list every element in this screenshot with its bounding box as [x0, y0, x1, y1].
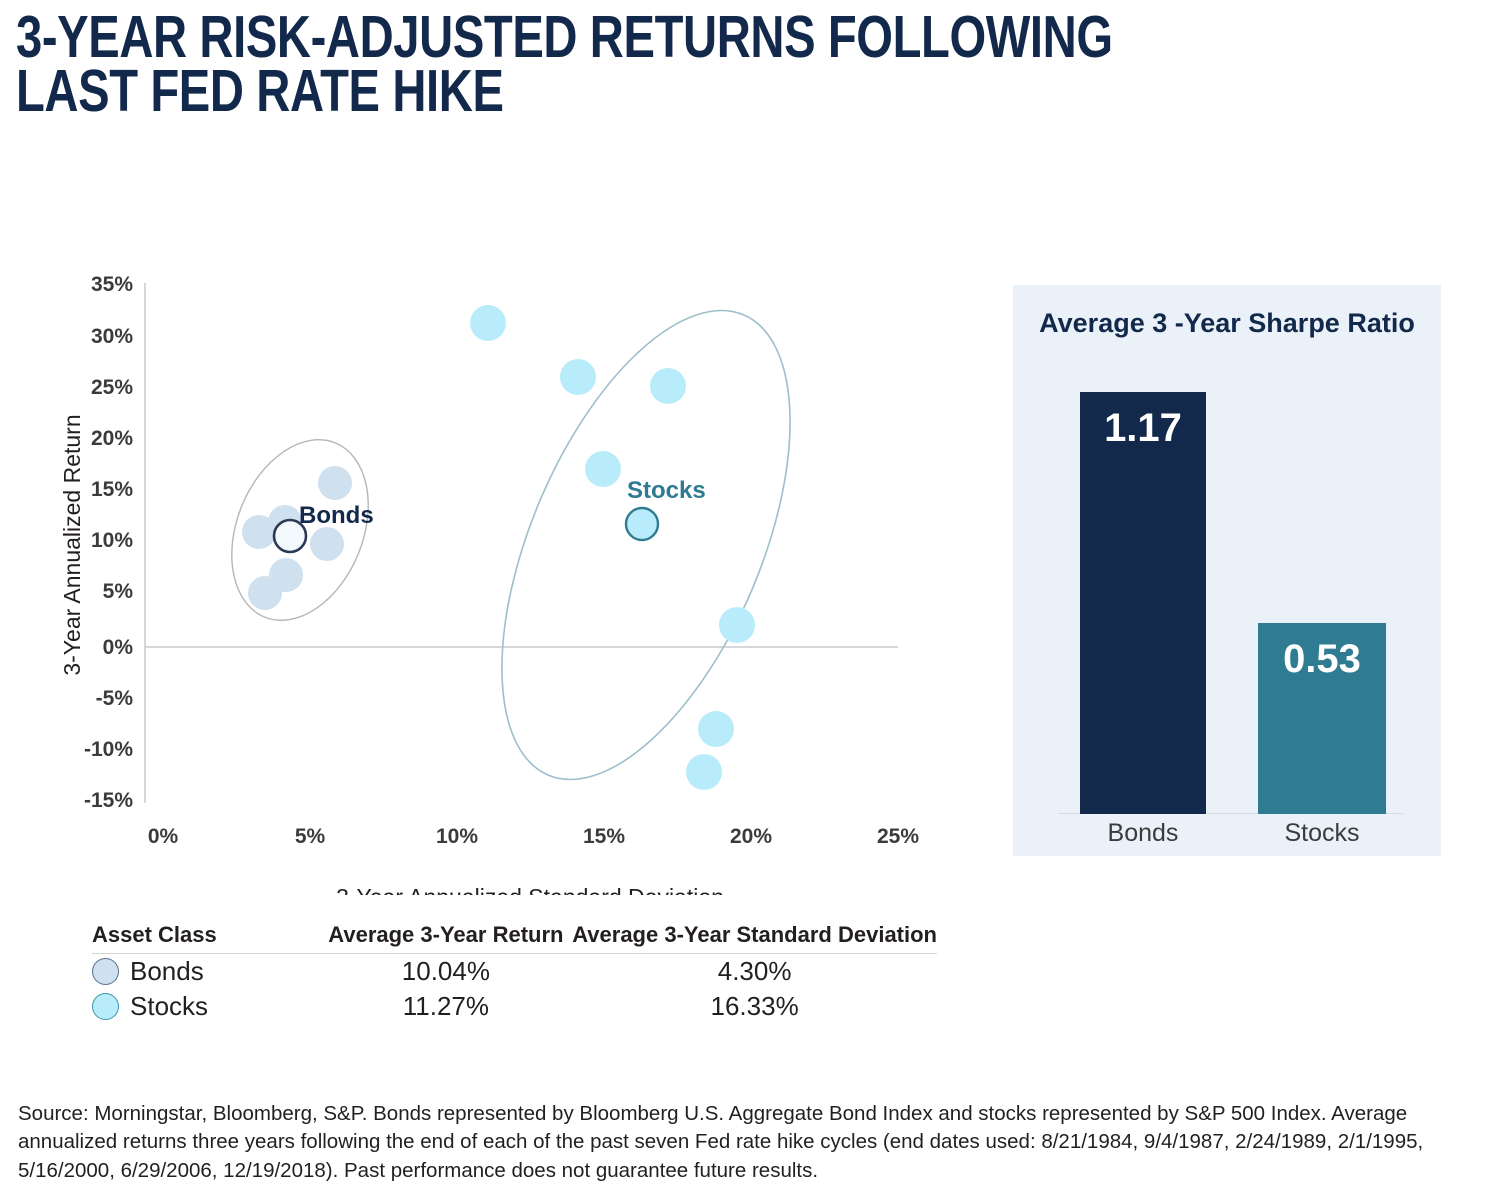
- x-tick-label: 25%: [877, 825, 919, 848]
- asset-name: Stocks: [130, 991, 208, 1022]
- bar-chart-title: Average 3 -Year Sharpe Ratio: [1013, 308, 1441, 339]
- bar-stocks: 0.53: [1258, 623, 1386, 814]
- bonds-legend-swatch-icon: [92, 958, 119, 985]
- scatter-chart: 35% 30% 25% 20% 15% 10% 5% 0% -5% -10% -…: [0, 255, 960, 895]
- cell-avg-return: 11.27%: [320, 989, 573, 1024]
- bonds-data-point: [310, 527, 344, 561]
- x-tick-label: 5%: [295, 825, 326, 848]
- table-row: Stocks 11.27% 16.33%: [92, 989, 937, 1024]
- cell-asset-class: Bonds: [92, 954, 320, 990]
- cell-avg-stdev: 16.33%: [572, 989, 937, 1024]
- y-tick-label: -5%: [96, 687, 134, 710]
- y-tick-label: 5%: [103, 580, 134, 603]
- bar-category-stocks: Stocks: [1258, 819, 1386, 848]
- stocks-average-marker: [626, 508, 658, 540]
- x-tick-label: 20%: [730, 825, 772, 848]
- column-header-avg-return: Average 3-Year Return: [320, 922, 573, 954]
- stocks-data-point: [719, 607, 755, 643]
- page-title: 3-YEAR RISK-ADJUSTED RETURNS FOLLOWING L…: [16, 10, 1152, 119]
- column-header-asset-class: Asset Class: [92, 922, 320, 954]
- bar-category-bonds: Bonds: [1080, 819, 1206, 848]
- bonds-data-point: [248, 576, 282, 610]
- bar-value-stocks: 0.53: [1258, 637, 1386, 682]
- cell-asset-class: Stocks: [92, 989, 320, 1024]
- column-header-avg-stdev: Average 3-Year Standard Deviation: [572, 922, 937, 954]
- y-tick-label: -15%: [84, 789, 133, 812]
- stocks-data-point: [560, 359, 596, 395]
- cell-avg-return: 10.04%: [320, 954, 573, 990]
- stocks-data-point: [686, 754, 722, 790]
- stocks-data-point: [585, 451, 621, 487]
- y-axis-title: 3-Year Annualized Return: [59, 414, 85, 675]
- table-row: Bonds 10.04% 4.30%: [92, 954, 937, 990]
- cell-avg-stdev: 4.30%: [572, 954, 937, 990]
- bar-value-bonds: 1.17: [1080, 406, 1206, 451]
- y-tick-label: 30%: [91, 325, 133, 348]
- bar-bonds: 1.17: [1080, 392, 1206, 814]
- stocks-data-point: [650, 368, 686, 404]
- stocks-group-label: Stocks: [627, 477, 706, 504]
- y-tick-label: 35%: [91, 273, 133, 296]
- stocks-points: [470, 305, 755, 790]
- x-tick-label: 0%: [148, 825, 179, 848]
- bonds-data-point: [318, 466, 352, 500]
- stocks-data-point: [470, 305, 506, 341]
- y-tick-label: 15%: [91, 478, 133, 501]
- source-footnote: Source: Morningstar, Bloomberg, S&P. Bon…: [18, 1100, 1473, 1185]
- y-tick-label: 10%: [91, 529, 133, 552]
- stocks-legend-swatch-icon: [92, 993, 119, 1020]
- x-tick-label: 15%: [583, 825, 625, 848]
- asset-name: Bonds: [130, 956, 204, 987]
- y-tick-label: 0%: [103, 636, 134, 659]
- bonds-group-label: Bonds: [299, 502, 374, 529]
- x-tick-label: 10%: [436, 825, 478, 848]
- sharpe-ratio-panel: Average 3 -Year Sharpe Ratio 1.17 Bonds …: [1013, 285, 1441, 856]
- y-tick-label: 25%: [91, 376, 133, 399]
- y-tick-label: -10%: [84, 738, 133, 761]
- x-axis-title: 3-Year Annualized Standard Deviation: [336, 884, 724, 895]
- table-header-row: Asset Class Average 3-Year Return Averag…: [92, 922, 937, 954]
- summary-table: Asset Class Average 3-Year Return Averag…: [92, 922, 937, 1024]
- y-tick-label: 20%: [91, 427, 133, 450]
- stocks-data-point: [698, 711, 734, 747]
- scatter-svg: 35% 30% 25% 20% 15% 10% 5% 0% -5% -10% -…: [0, 255, 960, 895]
- stocks-cluster-ellipse: [442, 270, 849, 820]
